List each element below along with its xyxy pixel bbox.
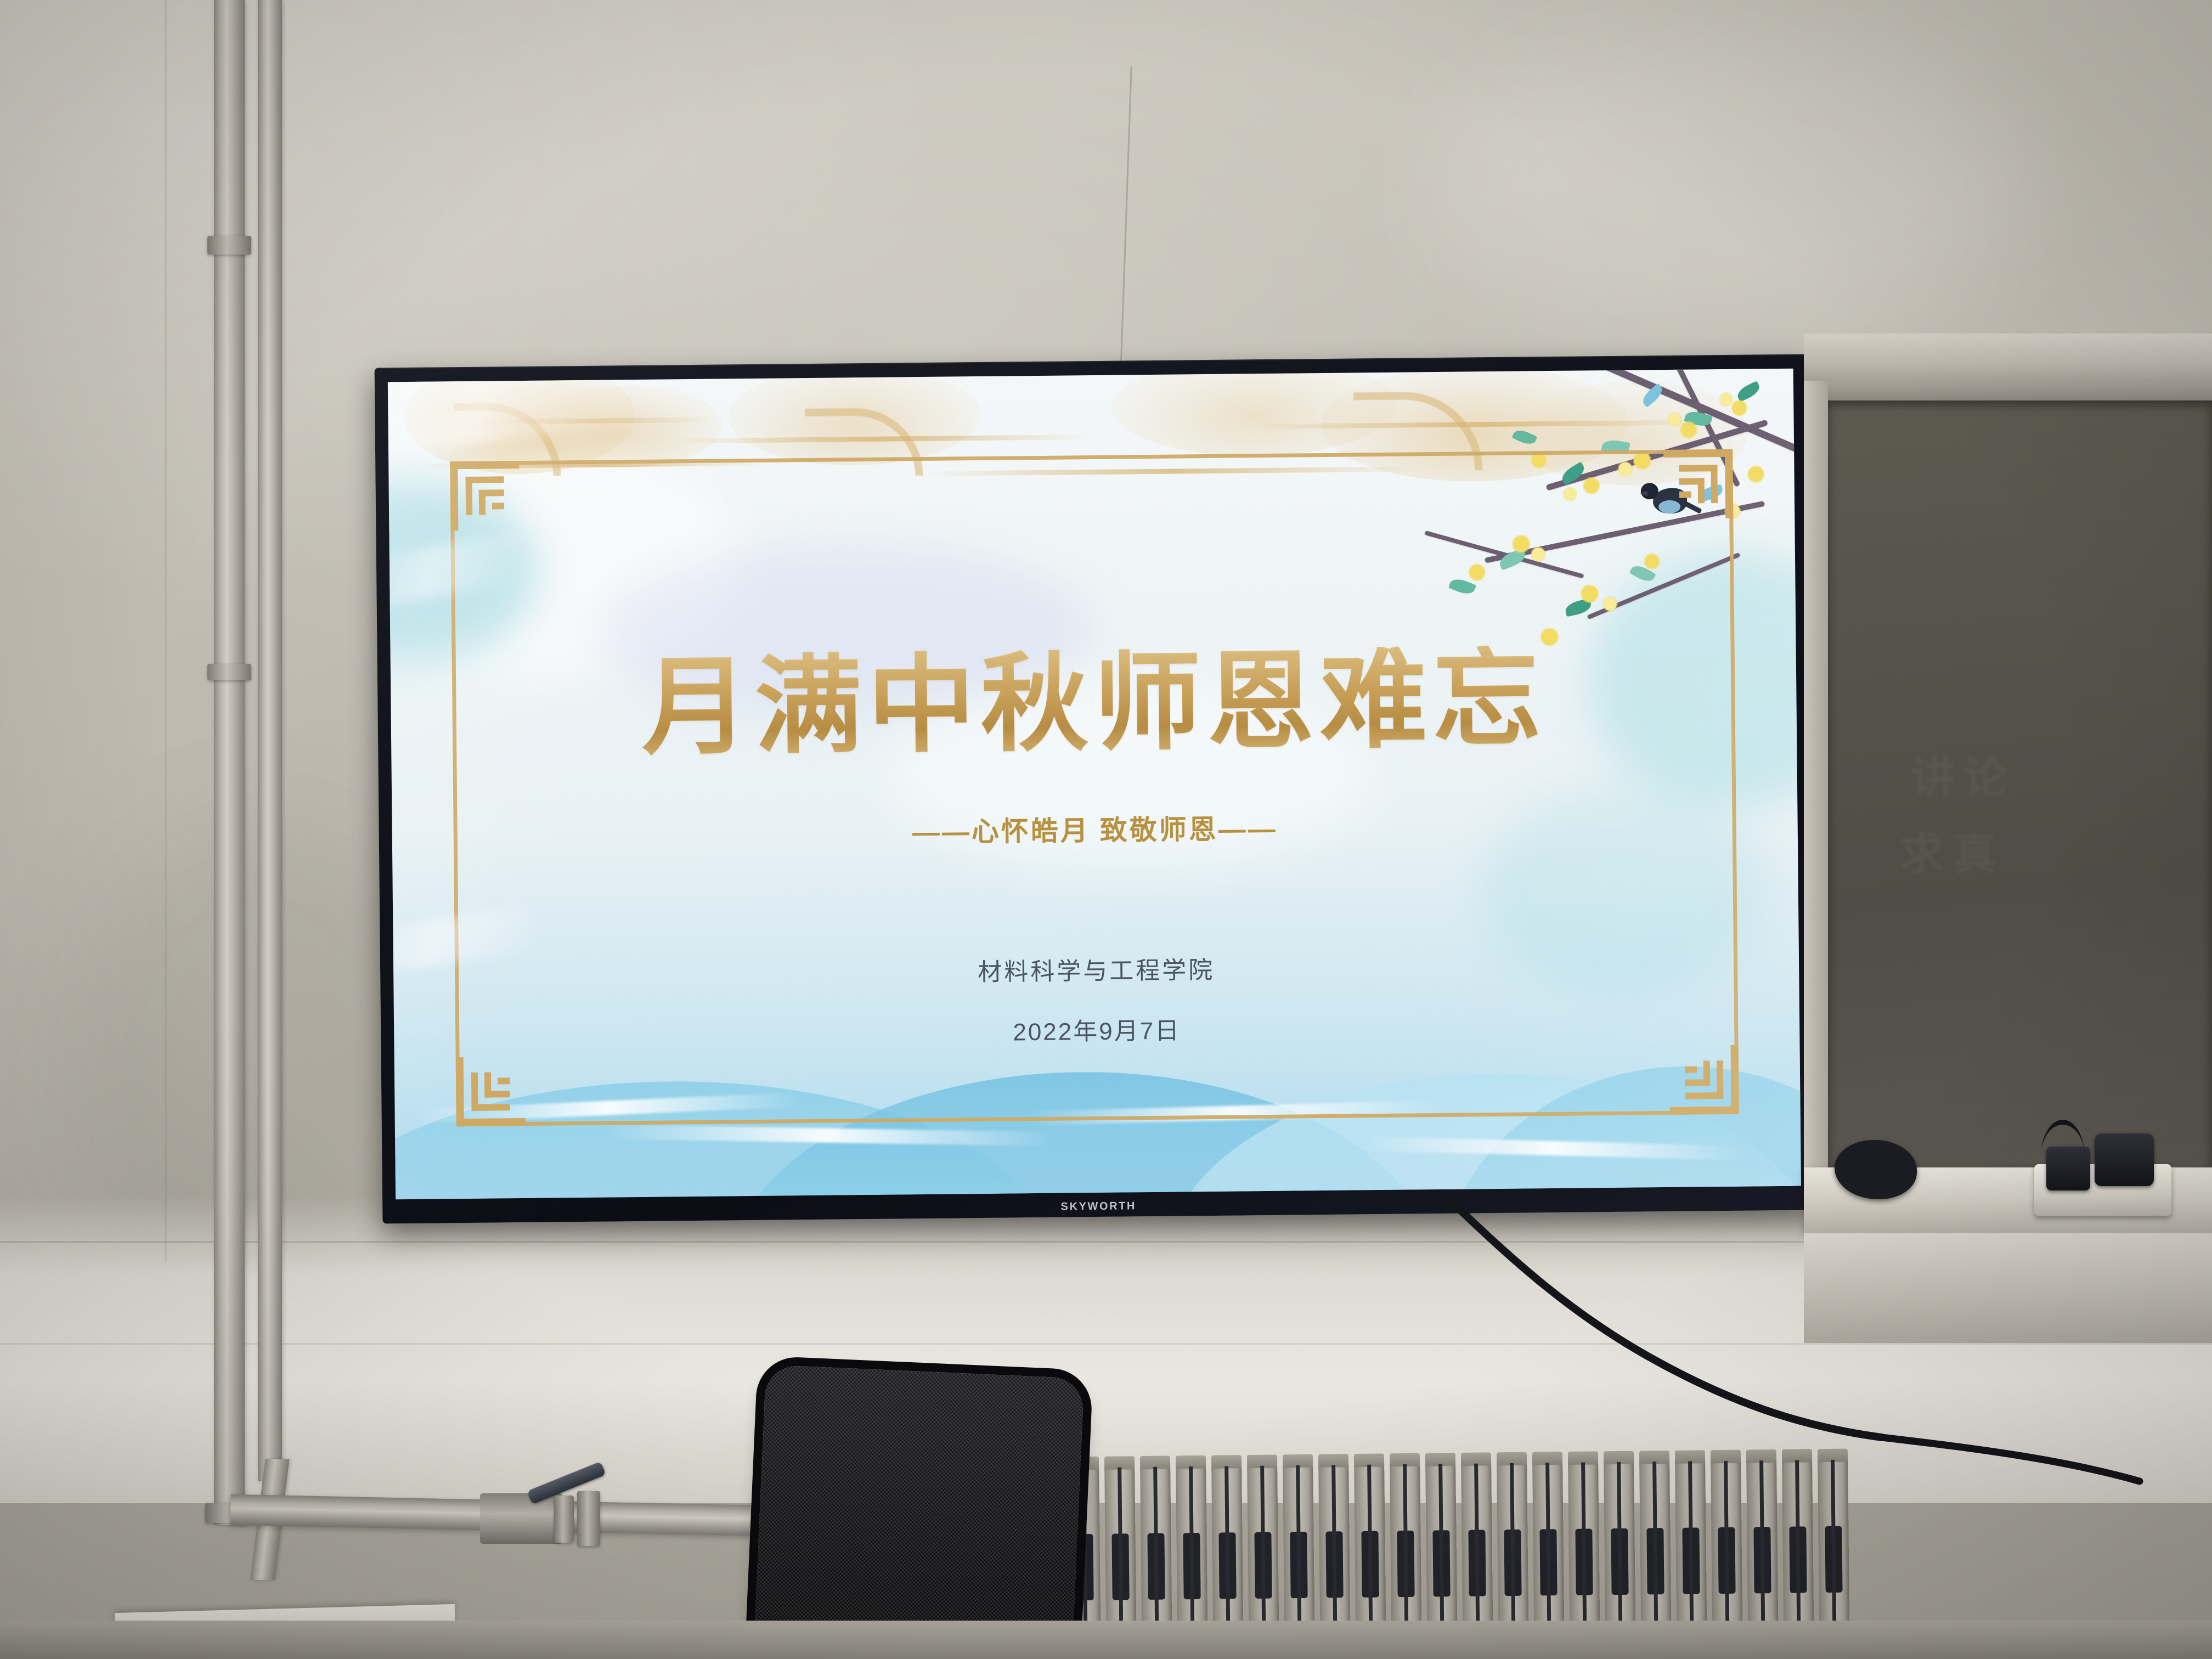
office-chair[interactable]: [754, 1365, 1084, 1659]
wall-mounted-display[interactable]: 月满中秋师恩难忘 ——心怀皓月 致敬师恩—— 材料科学与工程学院 2022年9月…: [375, 354, 1815, 1224]
display-screen: 月满中秋师恩难忘 ——心怀皓月 致敬师恩—— 材料科学与工程学院 2022年9月…: [388, 369, 1801, 1200]
window-niche: 讲论 求真: [1804, 334, 2212, 1343]
faint-wall-text: 求真: [1899, 817, 2005, 883]
faint-wall-text: 讲论: [1910, 741, 2016, 806]
photo-scene: 月满中秋师恩难忘 ——心怀皓月 致敬师恩—— 材料科学与工程学院 2022年9月…: [0, 0, 2212, 1659]
niche-glass: 讲论 求真: [1828, 400, 2212, 1184]
vertical-pipe-secondary: [258, 0, 282, 1481]
slide-text-block: 月满中秋师恩难忘 ——心怀皓月 致敬师恩—— 材料科学与工程学院 2022年9月…: [388, 369, 1801, 1200]
slide-organization: 材料科学与工程学院: [393, 945, 1799, 994]
slide-date: 2022年9月7日: [394, 1005, 1799, 1054]
niche-lip: [1804, 382, 2212, 400]
wall-stain: [1426, 33, 2030, 340]
floor-strip: [0, 1621, 2212, 1659]
wall-seam: [0, 1343, 2212, 1345]
sill-front-face: [1804, 1233, 2212, 1343]
valve-body: [480, 1493, 562, 1544]
vertical-pipe: [214, 0, 245, 1525]
valve-nut: [554, 1496, 574, 1543]
niche-header: [1804, 334, 2212, 386]
plug-adapter[interactable]: [2095, 1133, 2154, 1186]
slide-title: 月满中秋师恩难忘: [391, 643, 1797, 764]
pipe-collar: [207, 664, 251, 680]
pipe-collar: [207, 236, 251, 255]
slide-subtitle: ——心怀皓月 致敬师恩——: [392, 802, 1798, 855]
valve-nut: [577, 1491, 600, 1546]
chair-backrest: [754, 1365, 1084, 1659]
wall-crack: [165, 0, 167, 1262]
